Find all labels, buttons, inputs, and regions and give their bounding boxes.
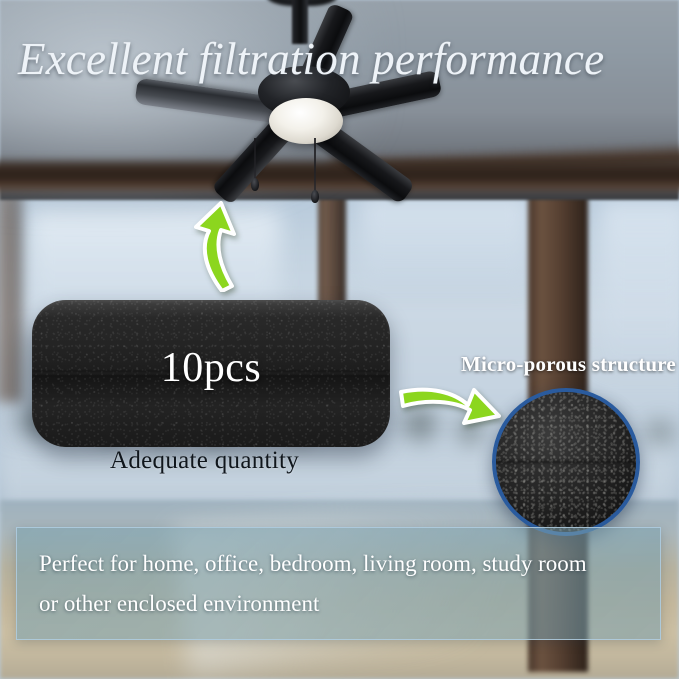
background-light-patch	[600, 200, 679, 370]
page-title: Excellent filtration performance	[18, 36, 668, 84]
usage-caption-text: Perfect for home, office, bedroom, livin…	[39, 544, 639, 623]
quantity-label: 10pcs	[32, 344, 390, 392]
microporous-seam	[496, 461, 636, 464]
filter-pad-stack: 10pcs	[32, 300, 390, 447]
usage-caption-line-2: or other enclosed environment	[39, 584, 639, 624]
usage-caption-line-1: Perfect for home, office, bedroom, livin…	[39, 544, 639, 584]
ceiling-fan	[150, 0, 510, 210]
green-curved-arrow-up-icon	[176, 200, 256, 292]
fan-light-dome	[269, 98, 343, 144]
fan-pull-chain	[254, 138, 256, 182]
usage-caption-panel: Perfect for home, office, bedroom, livin…	[16, 527, 661, 640]
fan-pull-chain	[314, 138, 316, 194]
quantity-caption: Adequate quantity	[110, 447, 299, 475]
detail-caption: Micro-porous structure	[461, 352, 676, 377]
green-curved-arrow-right-icon	[398, 376, 502, 432]
product-marketing-image: Excellent filtration performance 10pcs M…	[0, 0, 679, 679]
microporous-detail-circle	[492, 388, 640, 536]
